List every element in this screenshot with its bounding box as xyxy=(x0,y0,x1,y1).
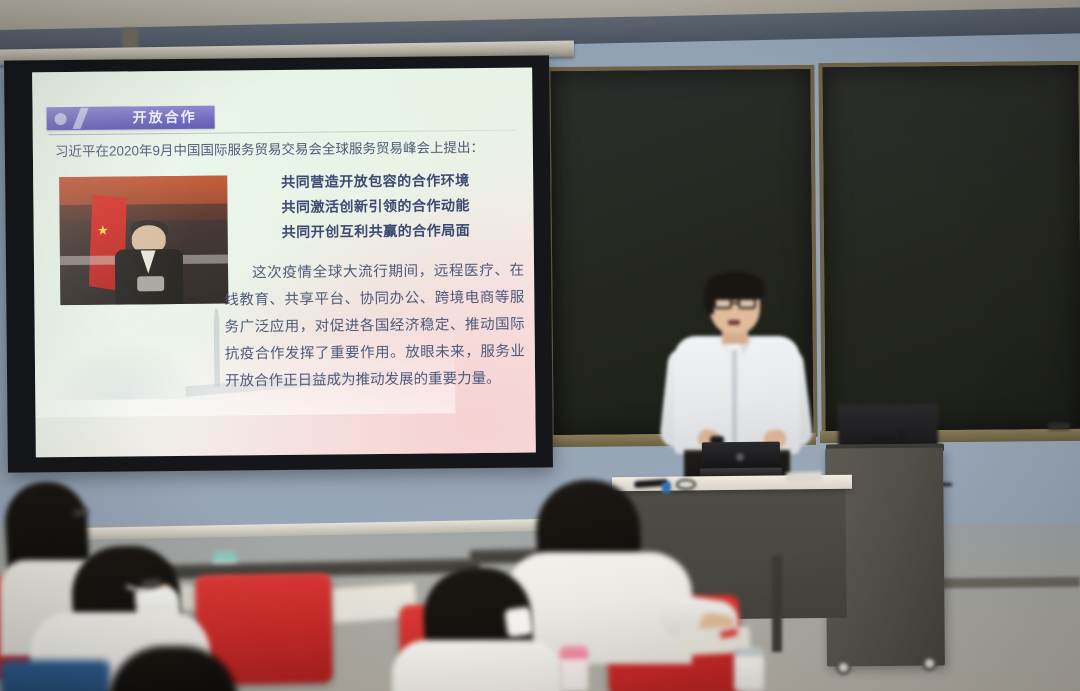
flag-star-icon: ★ xyxy=(97,224,110,237)
blue-connector-icon xyxy=(662,482,671,493)
chalk-item xyxy=(1048,423,1070,430)
slide-bullet-1: 共同营造开放包容的合作环境 xyxy=(281,168,531,195)
cabinet-caster-right-icon xyxy=(922,656,937,671)
slide-intro-line: 习近平在2020年9月中国国际服务贸易交易会全球服务贸易峰会上提出： xyxy=(55,138,525,163)
student-center-body xyxy=(392,640,562,691)
blackboard-panel-right xyxy=(818,61,1080,435)
glasses-icon-right xyxy=(738,298,756,309)
chair-blue-front xyxy=(0,660,110,691)
presentation-slide: 开放合作 习近平在2020年9月中国国际服务贸易交易会全球服务贸易峰会上提出： … xyxy=(32,68,536,458)
slide-bullet-2: 共同激活创新引领的合作动能 xyxy=(281,193,531,220)
white-water-bottle-icon xyxy=(734,648,764,691)
pink-water-bottle-icon xyxy=(560,646,588,691)
badge-label: 开放合作 xyxy=(117,108,213,128)
projection-screen: 开放合作 习近平在2020年9月中国国际服务贸易交易会全球服务贸易峰会上提出： … xyxy=(4,55,553,472)
classroom-scene: 开放合作 习近平在2020年9月中国国际服务贸易交易会全球服务贸易峰会上提出： … xyxy=(0,0,1080,691)
slide-body-paragraph: 这次疫情全球大流行期间，远程医疗、在线教育、共享平台、协同办公、跨境电商等服务广… xyxy=(224,258,525,396)
cable-coil xyxy=(676,479,696,490)
student-center-mask-icon xyxy=(504,606,534,637)
desk-leg-right xyxy=(772,556,782,652)
badge-dot-icon xyxy=(55,113,67,125)
student-left-glasses-icon xyxy=(72,507,89,518)
slide-bullet-list: 共同营造开放包容的合作环境 共同激活创新引领的合作动能 共同开创互利共赢的合作局… xyxy=(281,168,532,245)
photo-microphones xyxy=(137,276,164,292)
slide-bullet-3: 共同开创互利共赢的合作局面 xyxy=(282,218,532,245)
cabinet-caster-left-icon xyxy=(836,660,851,675)
header-divider xyxy=(49,130,517,135)
laptop-logo-icon xyxy=(736,453,744,461)
glasses-bridge-icon xyxy=(732,302,738,304)
presenter-mouth xyxy=(728,320,740,325)
presenter-hair-side xyxy=(704,282,714,314)
slide-embedded-photo: ★ xyxy=(59,175,228,305)
glasses-icon-left xyxy=(714,298,732,309)
desk-papers xyxy=(786,471,822,482)
presenter-hair xyxy=(706,272,764,300)
presenter-shirt-placket xyxy=(732,350,737,450)
